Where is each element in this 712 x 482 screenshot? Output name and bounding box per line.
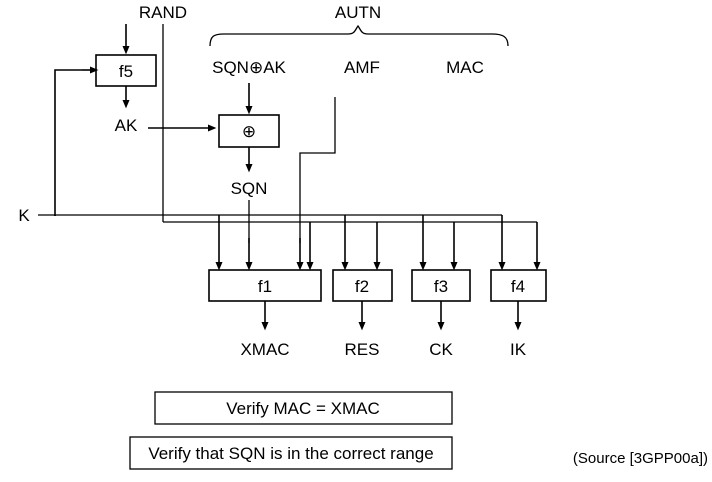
verify-sqn-label: Verify that SQN is in the correct range <box>148 444 433 463</box>
box-label-f1: f1 <box>258 277 272 296</box>
box-label-f2: f2 <box>355 277 369 296</box>
input-label-amf: AMF <box>344 58 380 77</box>
input-label-mac: MAC <box>446 58 484 77</box>
output-label-ck: CK <box>429 340 453 359</box>
group-label-autn: AUTN <box>335 3 381 22</box>
box-label-f5: f5 <box>119 62 133 81</box>
wire-k-to-f5-path <box>55 70 82 216</box>
wire-amf-trunk <box>300 97 335 243</box>
output-label-xmac: XMAC <box>240 340 289 359</box>
verify-mac-label: Verify MAC = XMAC <box>226 399 380 418</box>
diagram-root: RAND AUTN SQN⊕AK AMF MAC f5 AK ⊕ SQN K <box>0 0 712 482</box>
box-label-xor: ⊕ <box>242 122 256 141</box>
intermediate-label-sqn: SQN <box>231 179 268 198</box>
output-label-ik: IK <box>510 340 527 359</box>
source-note: (Source [3GPP00a]) <box>573 450 708 467</box>
box-label-f3: f3 <box>434 277 448 296</box>
intermediate-label-ak: AK <box>115 116 138 135</box>
input-label-sqn-xor-ak: SQN⊕AK <box>212 58 286 77</box>
aka-diagram-canvas: RAND AUTN SQN⊕AK AMF MAC f5 AK ⊕ SQN K <box>0 0 712 482</box>
output-label-res: RES <box>345 340 380 359</box>
input-label-k: K <box>18 206 30 225</box>
input-label-rand: RAND <box>139 3 187 22</box>
box-label-f4: f4 <box>511 277 525 296</box>
autn-brace <box>210 26 508 46</box>
